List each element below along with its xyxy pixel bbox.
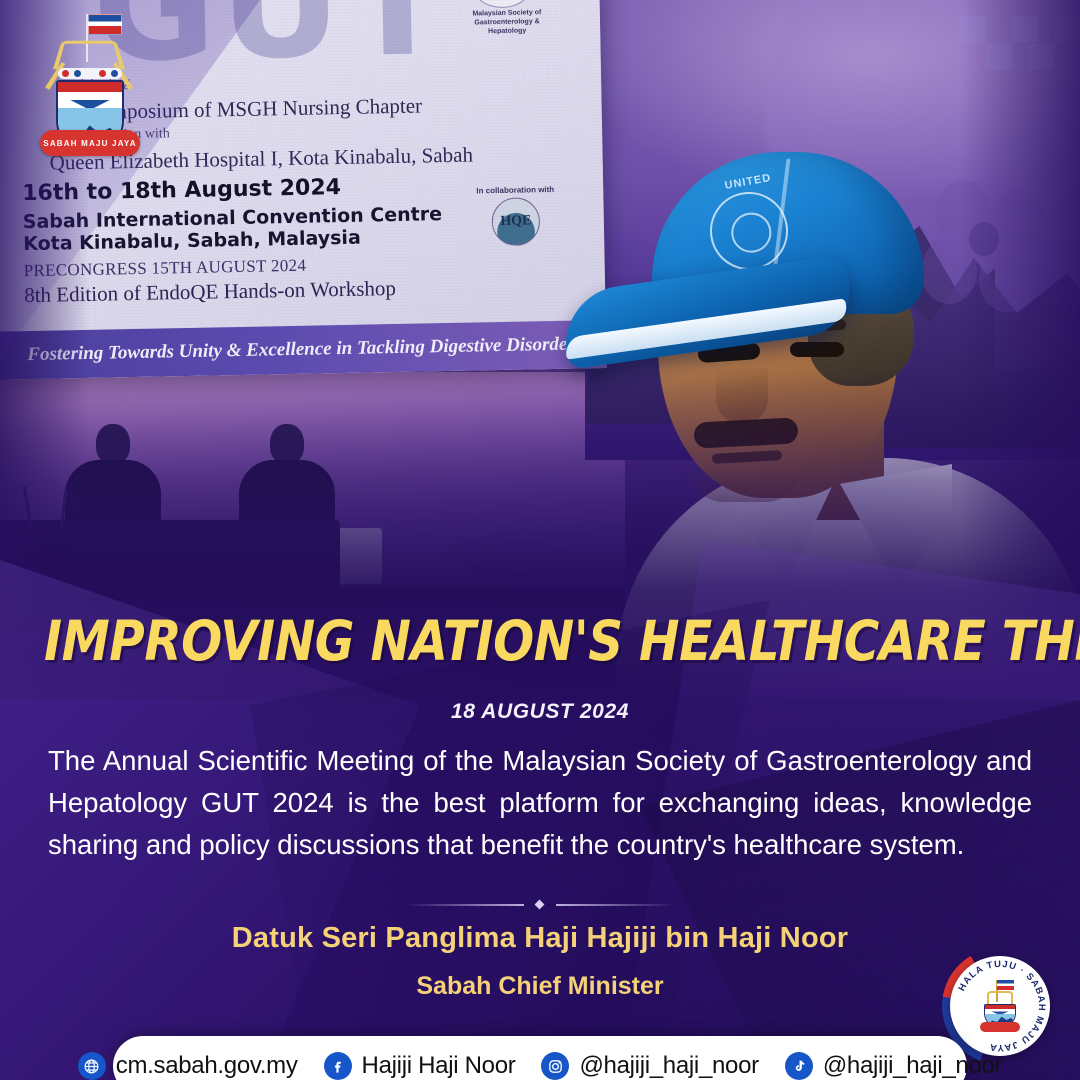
banner-gut-year: 2024 <box>352 0 392 3</box>
crest-motto-text: SABAH MAJU JAYA <box>43 139 136 148</box>
msgh-logo: Malaysian Society of Gastroenterology & … <box>472 0 539 22</box>
shield-chevron <box>58 82 122 110</box>
crest-beads <box>58 68 122 79</box>
globe-icon <box>78 1052 106 1080</box>
msgh-liver-icon <box>472 0 533 8</box>
social-item-facebook[interactable]: Hajiji Haji Noor <box>324 1052 516 1080</box>
social-label-website: cm.sabah.gov.my <box>116 1052 298 1080</box>
facebook-icon <box>324 1052 352 1080</box>
headline: IMPROVING NATION'S HEALTHCARE THROUGH GU… <box>44 614 924 669</box>
banner-tagline: Fostering Towards Unity & Excellence in … <box>27 333 582 366</box>
poster-canvas: GUT 2024 Malaysian Society of Gastroente… <box>0 0 1080 1080</box>
social-label-facebook: Hajiji Haji Noor <box>362 1052 516 1080</box>
msgh-logo-label: Malaysian Society of Gastroenterology & … <box>455 9 559 37</box>
attribution-title: Sabah Chief Minister <box>0 972 1080 1001</box>
social-label-instagram: @hajiji_haji_noor <box>579 1052 758 1080</box>
ornamental-divider <box>406 901 674 909</box>
crest-arms <box>53 41 125 69</box>
badge-mini-crest <box>978 980 1022 1036</box>
hqe-logo-icon <box>491 197 540 246</box>
social-media-bar: cm.sabah.gov.my Hajiji Haji Noor @hajiji… <box>113 1036 967 1080</box>
mini-ribbon <box>980 1022 1020 1032</box>
social-item-instagram[interactable]: @hajiji_haji_noor <box>541 1052 758 1080</box>
divider-diamond-icon <box>535 900 545 910</box>
instagram-icon <box>541 1052 569 1080</box>
sabah-flag-icon <box>88 14 122 35</box>
tiktok-icon <box>785 1052 813 1080</box>
social-item-website[interactable]: cm.sabah.gov.my <box>78 1052 298 1080</box>
sabah-coat-of-arms-logo: SABAH MAJU JAYA <box>36 12 148 164</box>
mini-flag-icon <box>997 980 1014 990</box>
attribution-name: Datuk Seri Panglima Haji Hajiji bin Haji… <box>0 922 1080 955</box>
eye-right <box>790 342 844 357</box>
social-item-tiktok[interactable]: @hajiji_haji_noor <box>785 1052 1002 1080</box>
body-paragraph: The Annual Scientific Meeting of the Mal… <box>48 740 1032 865</box>
badge-disc: HALA TUJU · SABAH MAJU JAYA <box>950 956 1050 1056</box>
social-label-tiktok: @hajiji_haji_noor <box>823 1052 1002 1080</box>
photo-collage: GUT 2024 Malaysian Society of Gastroente… <box>0 0 1080 700</box>
crest-motto-ribbon: SABAH MAJU JAYA <box>40 130 140 156</box>
event-date: 18 AUGUST 2024 <box>0 700 1080 724</box>
